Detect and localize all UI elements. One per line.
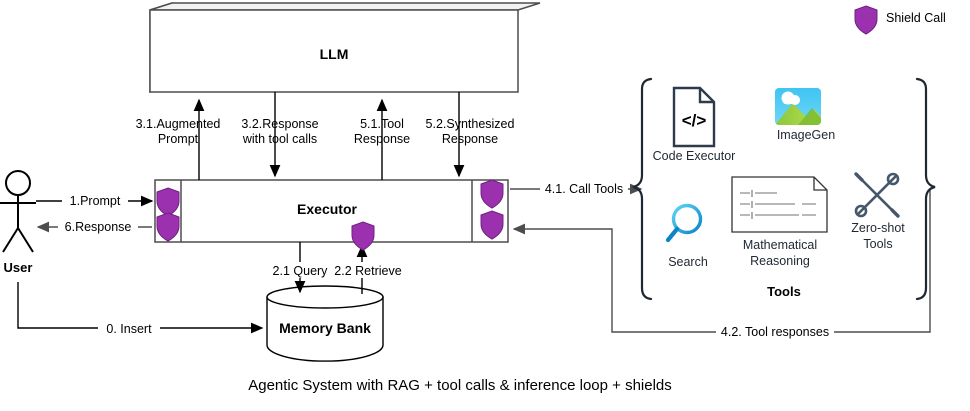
edge-label-tool-response-line2: Response [354,132,410,146]
tool-zero-shot[interactable]: Zero-shot Tools [851,174,905,251]
tool-search[interactable]: Search [668,206,708,270]
edge-label-query: 2.1 Query [273,264,329,278]
architecture-diagram: LLM Executor Memory Bank User 3.1.Augmen… [0,0,970,411]
edge-label-call-tools: 4.1. Call Tools [545,182,623,196]
edge-label-tool-responses: 4.2. Tool responses [721,325,829,339]
edge-tool-responses: 4.2. Tool responses [514,190,930,340]
tool-label-math-line1: Mathematical [743,238,817,252]
tool-label-math-line2: Reasoning [750,254,810,268]
edge-label-augmented-prompt-line1: 3.1.Augmented [136,117,221,131]
tool-label-zeroshot-line1: Zero-shot [851,221,905,235]
diagram-caption: Agentic System with RAG + tool calls & i… [248,377,672,394]
tool-label-zeroshot-line2: Tools [863,237,892,251]
legend-label: Shield Call [886,11,946,25]
memory-bank-label: Memory Bank [279,320,371,336]
diagram-canvas: LLM Executor Memory Bank User 3.1.Augmen… [0,0,970,411]
shield-executor-memory [352,222,374,250]
node-user[interactable]: User [0,171,36,275]
code-executor-glyph: </> [682,111,707,130]
edge-label-insert: 0. Insert [106,322,152,336]
edge-call-tools: 4.1. Call Tools [510,180,641,197]
node-memory-bank[interactable]: Memory Bank [267,286,383,361]
edge-insert: 0. Insert [18,282,262,336]
edge-label-response-tool-calls-line1: 3.2.Response [241,117,318,131]
user-label: User [4,260,33,275]
edge-label-prompt: 1.Prompt [70,194,121,208]
edge-label-response: 6.Response [65,220,132,234]
node-executor[interactable]: Executor [155,180,508,242]
tools-group-label: Tools [767,284,801,299]
edge-label-tool-response-line1: 5.1.Tool [360,117,404,131]
edge-label-synthesized-line1: 5.2.Synthesized [426,117,515,131]
tool-mathematical-reasoning[interactable]: Mathematical Reasoning [732,177,827,268]
edge-query: 2.1 Query [272,242,330,292]
edge-label-synthesized-line2: Response [442,132,498,146]
edge-augmented-prompt: 3.1.Augmented Prompt [136,100,221,180]
tool-label-code-executor: Code Executor [653,149,736,163]
executor-label: Executor [297,201,357,217]
edge-response: 6.Response [38,218,152,235]
edge-label-augmented-prompt-line2: Prompt [158,132,199,146]
legend-shield-call: Shield Call [855,6,946,34]
crossed-tools-icon [856,174,898,216]
tool-label-imagegen: ImageGen [777,128,835,142]
tool-imagegen[interactable]: ImageGen [775,88,835,142]
tool-label-search: Search [668,255,708,269]
llm-label: LLM [320,46,349,62]
node-llm[interactable]: LLM [150,3,540,92]
edge-label-retrieve: 2.2 Retrieve [334,264,401,278]
edge-response-with-tool-calls: 3.2.Response with tool calls [241,92,318,176]
edge-synthesized-response: 5.2.Synthesized Response [426,92,515,176]
edge-tool-response: 5.1.Tool Response [354,100,410,180]
tool-code-executor[interactable]: </> Code Executor [653,88,736,163]
edge-prompt: 1.Prompt [36,192,152,209]
edge-label-response-tool-calls-line2: with tool calls [242,132,317,146]
